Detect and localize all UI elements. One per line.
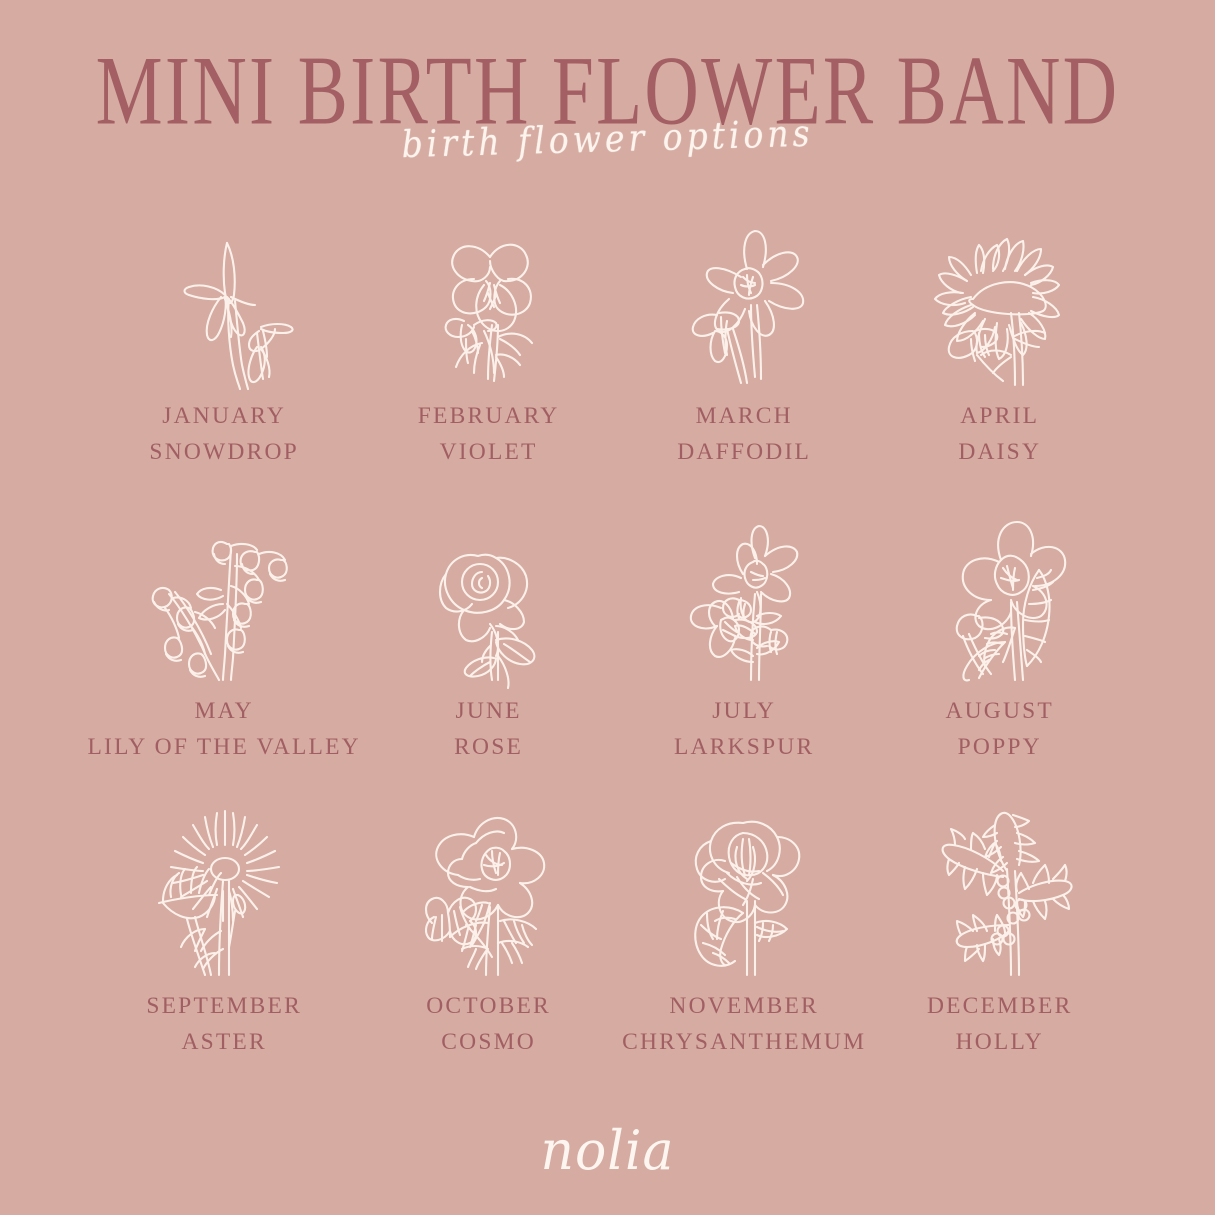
flower-label: DAISY [958,435,1041,471]
month-label: APRIL [958,399,1041,435]
flower-label: LARKSPUR [674,730,814,766]
flower-card-may[interactable]: MAY LILY OF THE VALLEY [88,508,361,803]
flower-card-labels: FEBRUARY VIOLET [418,399,560,470]
flower-card-september[interactable]: SEPTEMBER ASTER [88,803,361,1098]
flower-card-october[interactable]: OCTOBER COSMO [361,803,617,1098]
daisy-flower-icon [915,213,1085,385]
month-label: AUGUST [945,694,1054,730]
flower-card-labels: JULY LARKSPUR [674,694,814,765]
flower-grid: JANUARY SNOWDROP [88,213,1128,1098]
month-label: FEBRUARY [418,399,560,435]
flower-label: SNOWDROP [149,435,298,471]
month-label: MARCH [677,399,811,435]
brand-logo: nolia [540,1120,674,1183]
poster-header: MINI BIRTH FLOWER BAND birth flower opti… [0,0,1215,181]
lily-of-the-valley-flower-icon [139,508,309,680]
flower-card-december[interactable]: DECEMBER HOLLY [872,803,1128,1098]
flower-card-labels: MARCH DAFFODIL [677,399,811,470]
flower-card-labels: JANUARY SNOWDROP [149,399,298,470]
flower-card-labels: JUNE ROSE [454,694,523,765]
month-label: SEPTEMBER [146,989,302,1025]
flower-card-february[interactable]: FEBRUARY VIOLET [361,213,617,508]
month-label: DECEMBER [927,989,1073,1025]
flower-label: DAFFODIL [677,435,811,471]
flower-card-november[interactable]: NOVEMBER CHRYSANTHEMUM [616,803,872,1098]
holly-branch-icon [915,803,1085,975]
aster-flower-icon [139,803,309,975]
flower-card-labels: MAY LILY OF THE VALLEY [88,694,361,765]
month-label: NOVEMBER [622,989,866,1025]
month-label: OCTOBER [426,989,551,1025]
flower-label: ASTER [146,1025,302,1061]
flower-card-labels: NOVEMBER CHRYSANTHEMUM [622,989,866,1060]
flower-label: VIOLET [418,435,560,471]
flower-card-january[interactable]: JANUARY SNOWDROP [88,213,361,508]
flower-label: CHRYSANTHEMUM [622,1025,866,1061]
flower-card-labels: SEPTEMBER ASTER [146,989,302,1060]
poster-footer: nolia [0,1121,1215,1181]
flower-card-april[interactable]: APRIL DAISY [872,213,1128,508]
flower-label: POPPY [945,730,1054,766]
month-label: MAY [88,694,361,730]
violet-flower-icon [404,213,574,385]
poppy-flower-icon [915,508,1085,680]
flower-card-march[interactable]: MARCH DAFFODIL [616,213,872,508]
subtitle-wrapper: birth flower options [0,115,1215,181]
flower-card-labels: APRIL DAISY [958,399,1041,470]
flower-card-june[interactable]: JUNE ROSE [361,508,617,803]
month-label: JANUARY [149,399,298,435]
flower-card-august[interactable]: AUGUST POPPY [872,508,1128,803]
flower-card-labels: AUGUST POPPY [945,694,1054,765]
snowdrop-flower-icon [139,213,309,385]
month-label: JUNE [454,694,523,730]
daffodil-flower-icon [659,213,829,385]
birth-flower-poster: MINI BIRTH FLOWER BAND birth flower opti… [0,0,1215,1215]
cosmo-flower-icon [404,803,574,975]
flower-label: COSMO [426,1025,551,1061]
flower-label: LILY OF THE VALLEY [88,730,361,766]
flower-card-labels: DECEMBER HOLLY [927,989,1073,1060]
flower-card-labels: OCTOBER COSMO [426,989,551,1060]
month-label: JULY [674,694,814,730]
flower-label: ROSE [454,730,523,766]
flower-label: HOLLY [927,1025,1073,1061]
larkspur-flower-icon [659,508,829,680]
flower-card-july[interactable]: JULY LARKSPUR [616,508,872,803]
chrysanthemum-flower-icon [659,803,829,975]
rose-flower-icon [404,508,574,680]
